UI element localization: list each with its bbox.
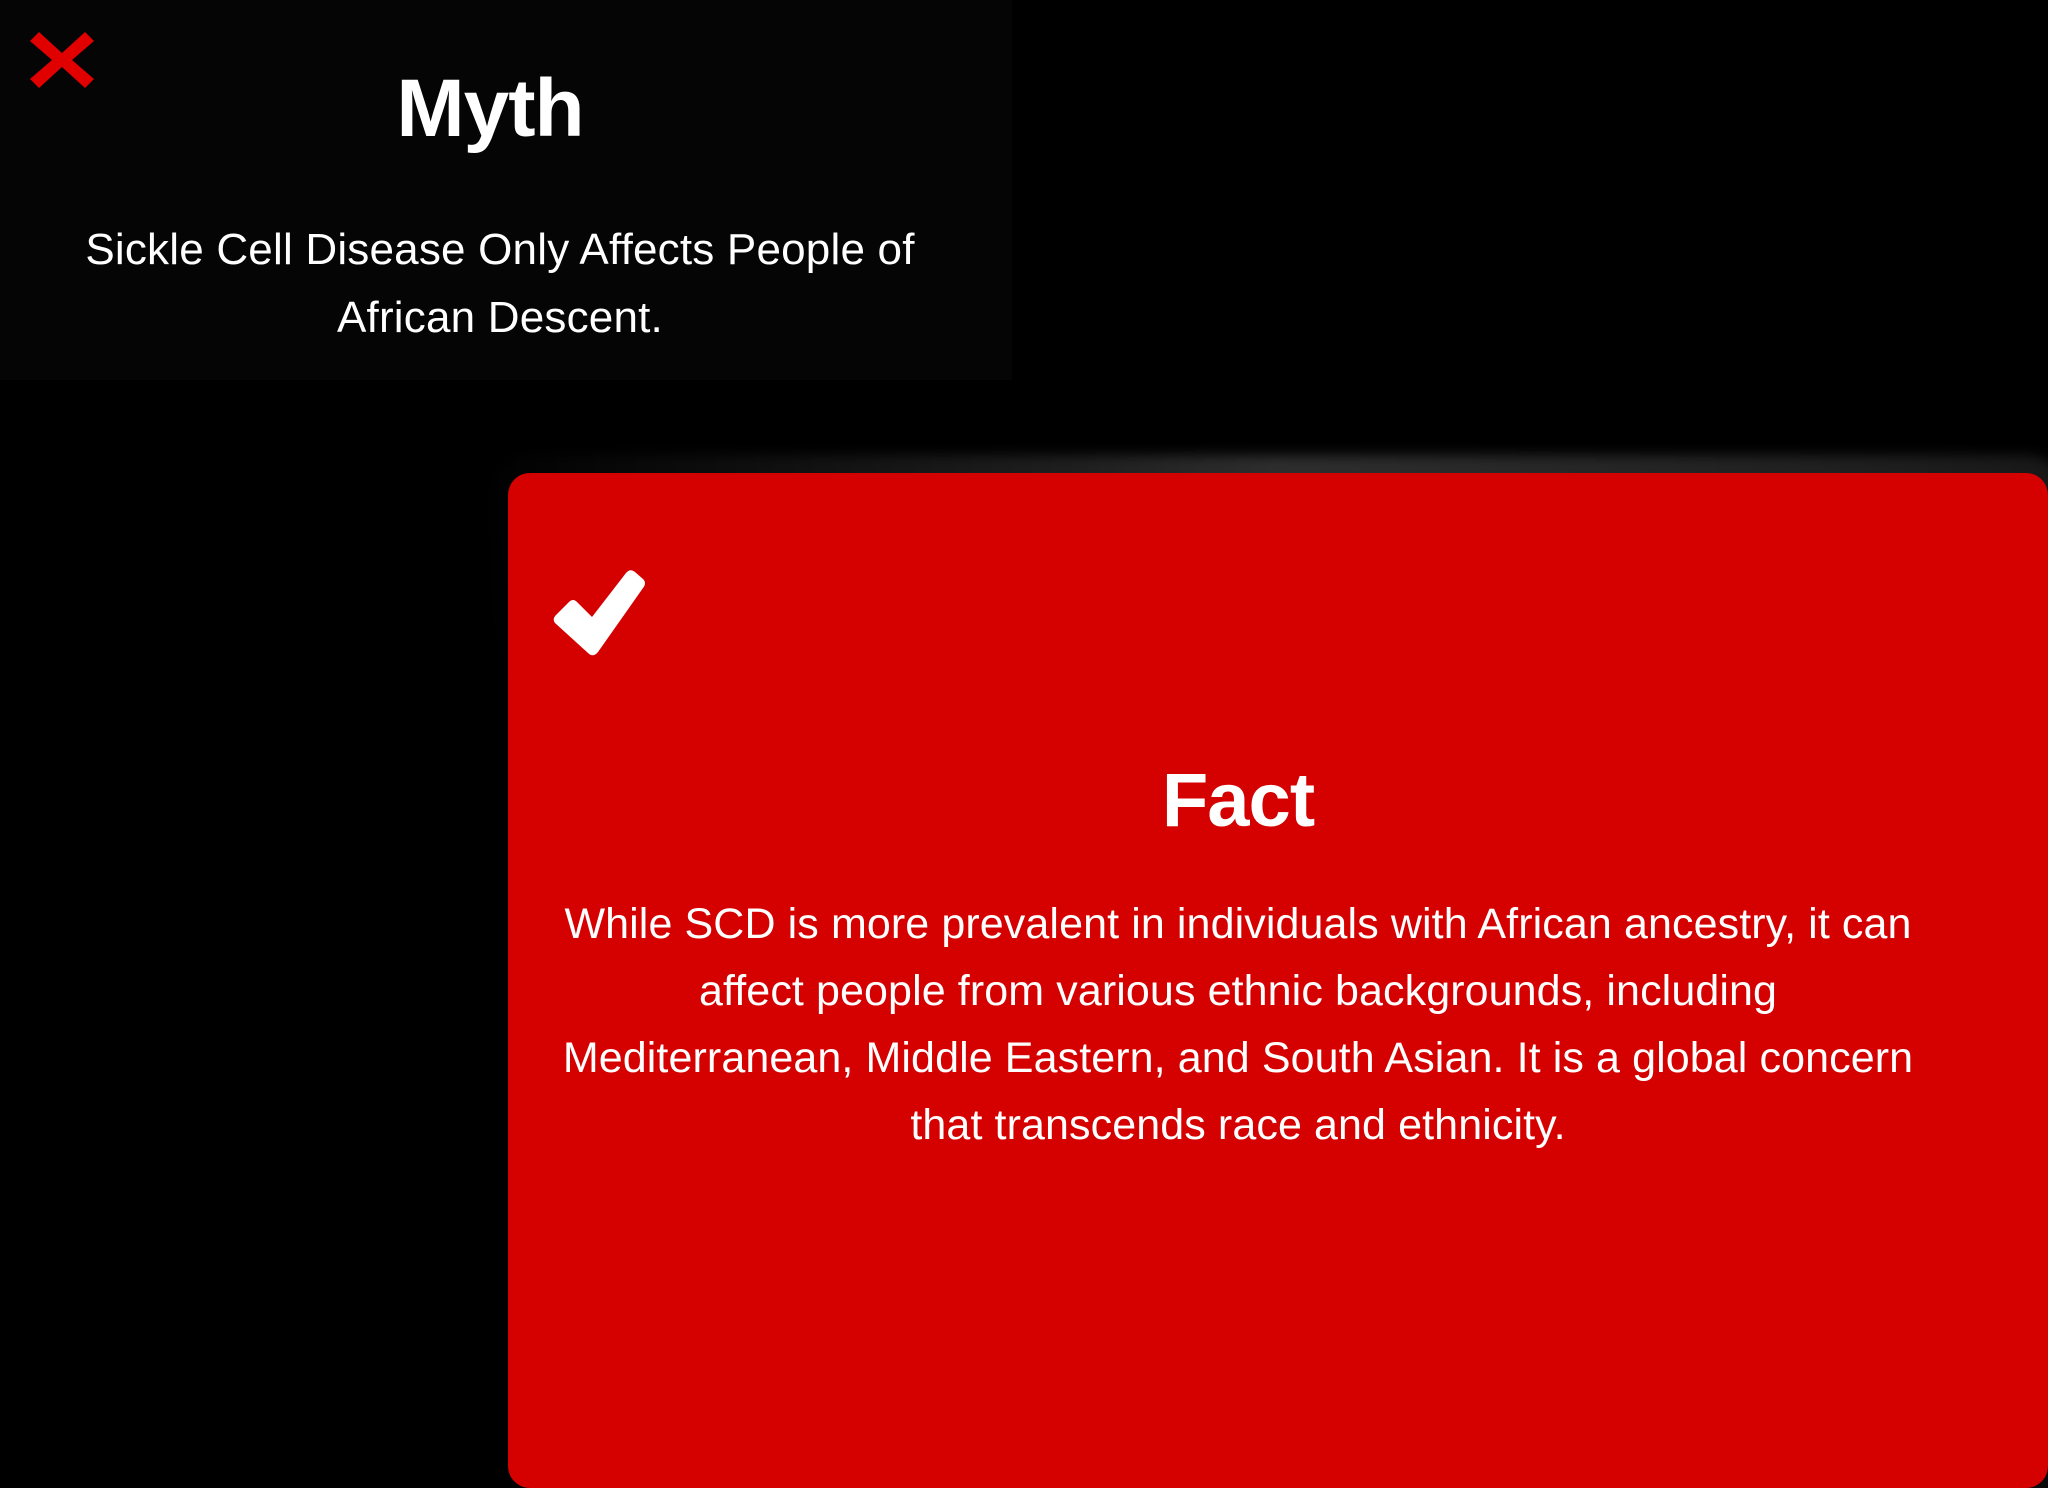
- fact-card-container: Fact While SCD is more prevalent in indi…: [508, 473, 2048, 1488]
- fact-title: Fact: [508, 763, 1968, 839]
- myth-fact-infographic: Myth Sickle Cell Disease Only Affects Pe…: [0, 0, 2048, 1488]
- x-mark-icon: [28, 28, 96, 92]
- check-mark-icon: [550, 561, 646, 665]
- myth-panel: Myth Sickle Cell Disease Only Affects Pe…: [0, 0, 1012, 380]
- fact-card: Fact While SCD is more prevalent in indi…: [508, 473, 2048, 1488]
- fact-body-text: While SCD is more prevalent in individua…: [548, 891, 1928, 1159]
- myth-subtitle: Sickle Cell Disease Only Affects People …: [30, 216, 970, 352]
- myth-title: Myth: [130, 68, 850, 150]
